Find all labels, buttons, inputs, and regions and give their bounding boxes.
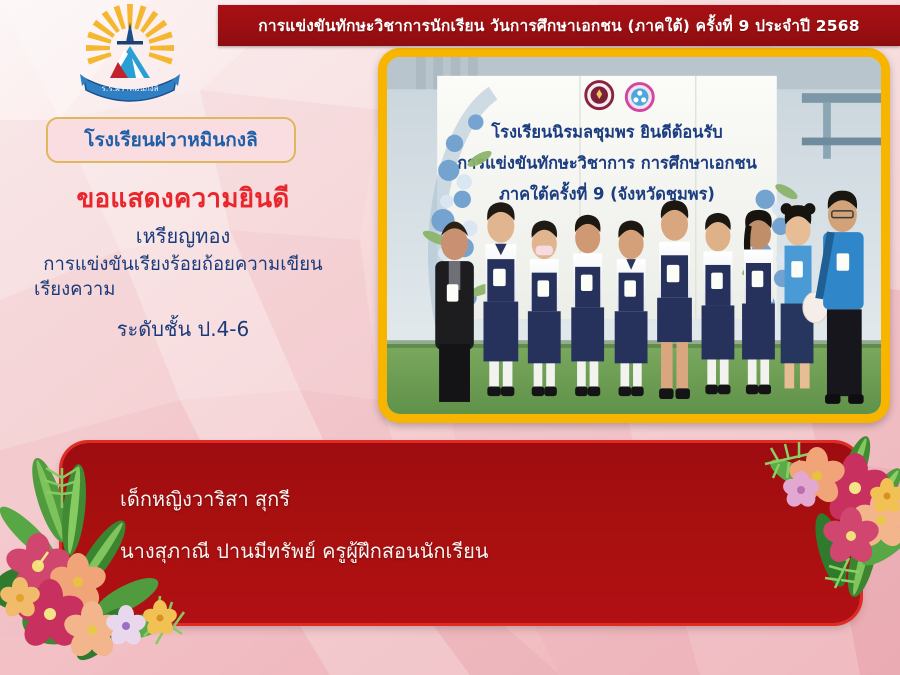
certificate-canvas: การแข่งขันทักษะวิชาการนักเรียน วันการศึก… [0, 0, 900, 675]
event-name-line2: เรียงความ [8, 278, 358, 303]
backdrop-line-3: ภาคใต้ครั้งที่ 9 (จังหวัดชุมพร) [499, 181, 715, 204]
royal-garuda-emblem [586, 82, 613, 109]
award-text-block: ขอแสดงความยินดี เหรียญทอง การแข่งขันเรีย… [8, 185, 358, 343]
school-name-badge: โรงเรียนฝวาหมินกงลิ [46, 117, 296, 163]
medal-text: เหรียญทอง [8, 223, 358, 249]
event-title-text: การแข่งขันทักษะวิชาการนักเรียน วันการศึก… [258, 13, 859, 38]
event-name-line1: การแข่งขันเรียงร้อยถ้อยความเขียน [8, 253, 358, 278]
award-group-photo: โรงเรียนนิรมลชุมพร ยินดีต้อนรับ การแข่งข… [378, 48, 890, 423]
backdrop-line-2: การแข่งขันทักษะวิชาการ การศึกษาเอกชน [457, 153, 757, 172]
school-name-text: โรงเรียนฝวาหมินกงลิ [84, 125, 257, 155]
teacher-name: นางสุภาณี ปานมีทรัพย์ ครูผู้ฝึกสอนนักเรี… [120, 540, 740, 562]
event-title-banner: การแข่งขันทักษะวิชาการนักเรียน วันการศึก… [218, 5, 900, 46]
grade-level-text: ระดับชั้น ป.4-6 [8, 315, 358, 343]
student-name: เด็กหญิงวาริสา สุกรี [120, 488, 740, 510]
recipients-text-block: เด็กหญิงวาริสา สุกรี นางสุภาณี ปานมีทรัพ… [120, 488, 740, 592]
school-crest-logo: ร.ร.ฝวาหมินกงลิ [70, 2, 190, 110]
logo-ribbon-text: ร.ร.ฝวาหมินกงลิ [101, 84, 158, 93]
education-ministry-emblem [626, 84, 653, 111]
backdrop-line-1: โรงเรียนนิรมลชุมพร ยินดีต้อนรับ [490, 122, 722, 143]
congratulations-text: ขอแสดงความยินดี [8, 185, 358, 215]
